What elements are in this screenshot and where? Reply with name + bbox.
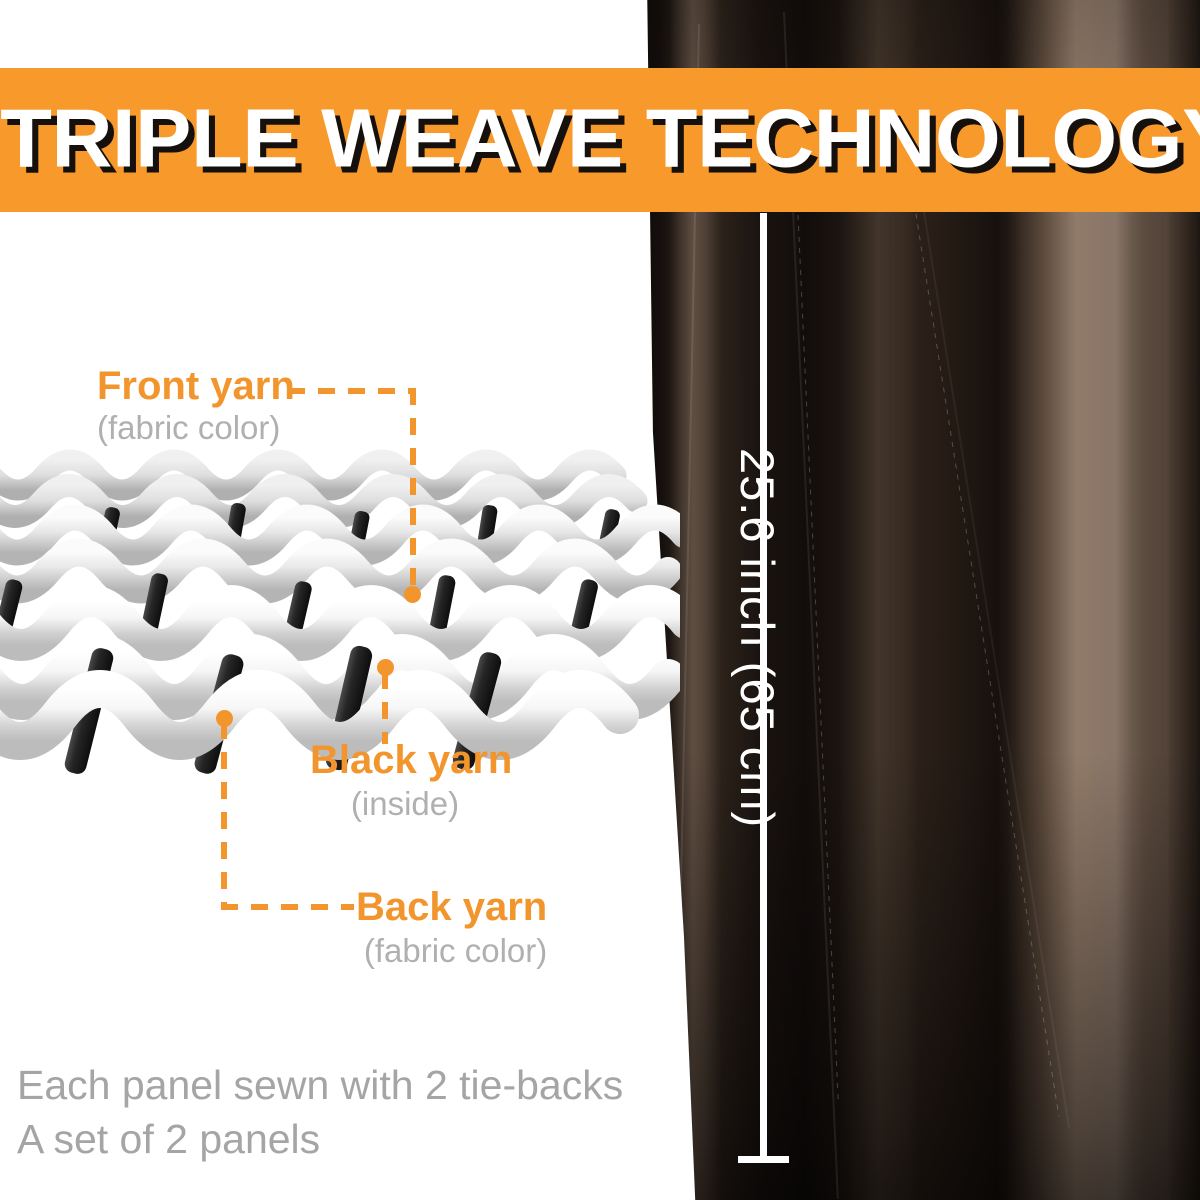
leader-line-front-yarn-horizontal <box>288 388 416 394</box>
dimension-line-end-cap <box>738 1156 789 1163</box>
callout-back-yarn-title: Back yarn <box>356 885 547 929</box>
note-line-1: Each panel sewn with 2 tie-backs <box>17 1058 623 1112</box>
headline-text: TRIPLE WEAVE TECHNOLOGY <box>0 96 1200 180</box>
callout-back-yarn: Back yarn (fabric color) <box>356 885 547 973</box>
leader-line-black-yarn-vertical <box>382 672 388 744</box>
leader-line-back-yarn-horizontal <box>221 904 354 910</box>
headline-banner: TRIPLE WEAVE TECHNOLOGY <box>0 68 1200 212</box>
weave-mid-rows <box>0 518 680 590</box>
callout-front-yarn: Front yarn (fabric color) <box>97 364 295 448</box>
callout-black-yarn: Black yarn (inside) <box>310 738 500 826</box>
callout-front-yarn-title: Front yarn <box>97 364 295 408</box>
bottom-notes: Each panel sewn with 2 tie-backs A set o… <box>17 1058 623 1166</box>
leader-line-back-yarn-vertical <box>221 722 227 910</box>
callout-black-yarn-subtitle: (inside) <box>310 782 500 826</box>
callout-back-yarn-subtitle: (fabric color) <box>356 929 547 973</box>
dimension-label: 25.6 inch (65 cm) <box>730 448 785 828</box>
product-infographic: 25.6 inch (65 cm) TRIPLE WEAVE TECHNOLOG… <box>0 0 1200 1200</box>
callout-front-yarn-subtitle: (fabric color) <box>97 408 295 448</box>
callout-black-yarn-title: Black yarn <box>310 738 500 782</box>
leader-line-front-yarn-vertical <box>410 388 416 594</box>
note-line-2: A set of 2 panels <box>17 1112 623 1166</box>
leader-dot-front-yarn <box>404 586 421 603</box>
